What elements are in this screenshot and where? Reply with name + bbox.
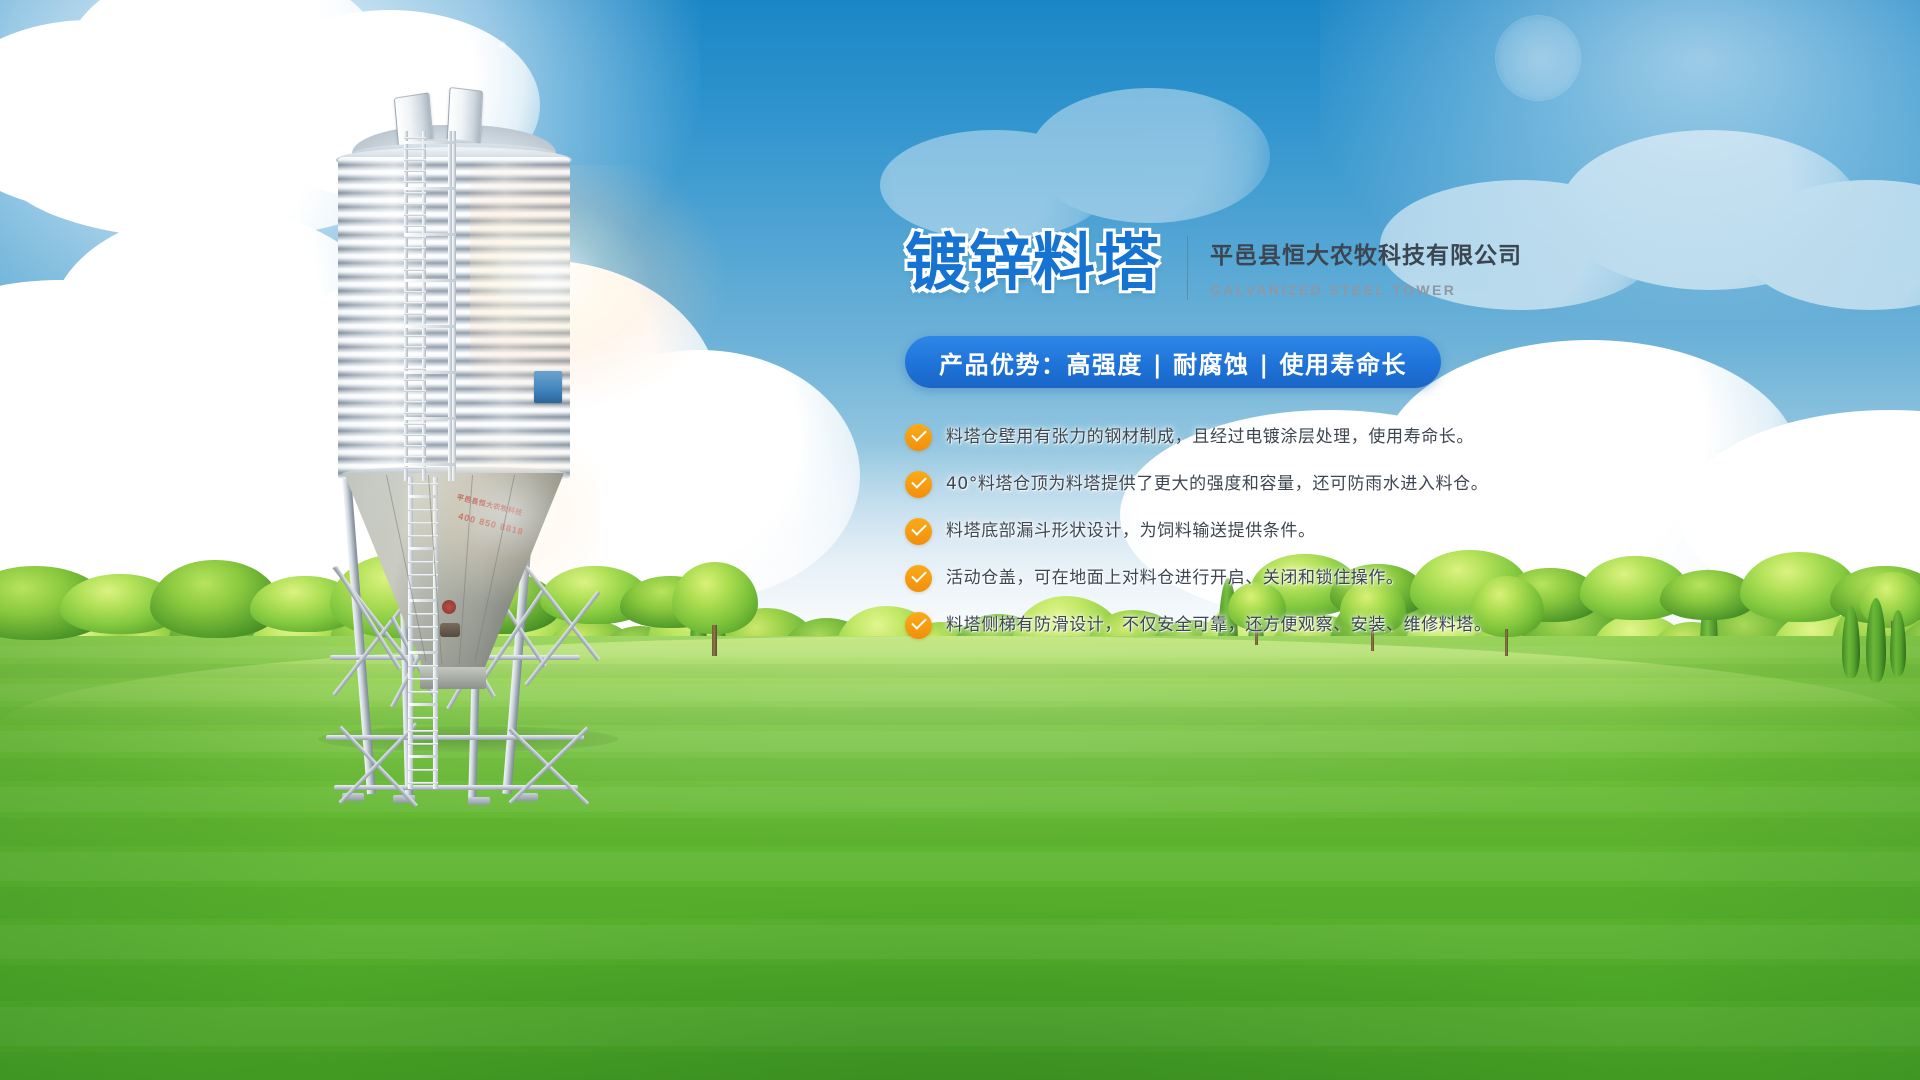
- ladder-rung: [408, 535, 438, 537]
- banner-stage: 平邑县恒大农牧科技 400 850 8818 镀锌料塔 平邑县恒大农牧科技有限公…: [0, 0, 1920, 1080]
- ladder-rung: [404, 148, 426, 150]
- ladder-rung: [404, 313, 426, 315]
- feature-item-label: 活动仓盖，可在地面上对料仓进行开启、关闭和锁住操作。: [946, 567, 1404, 589]
- ladder-rung: [408, 613, 438, 615]
- galvanized-steel-silo: 平邑县恒大农牧科技 400 850 8818: [300, 95, 620, 745]
- headline-right-block: 平邑县恒大农牧科技有限公司 GALVANIZED STEEL TOWER: [1210, 232, 1522, 298]
- ladder-rung: [404, 291, 426, 293]
- ladder-rung: [408, 574, 438, 576]
- ladder-rung: [408, 730, 438, 732]
- ladder-rung: [404, 379, 426, 381]
- ladder-cage-rib: [404, 417, 456, 420]
- ladder-rung: [404, 401, 426, 403]
- subtitle-english: GALVANIZED STEEL TOWER: [1210, 282, 1522, 298]
- check-circle-icon: [905, 471, 932, 498]
- ladder-rung: [404, 445, 426, 447]
- ladder-rung: [404, 423, 426, 425]
- ladder-rung: [408, 717, 438, 719]
- banner-content: 镀锌料塔 平邑县恒大农牧科技有限公司 GALVANIZED STEEL TOWE…: [905, 232, 1585, 659]
- silo-ladder-cage-rail: [448, 131, 456, 481]
- ladder-rung: [404, 247, 426, 249]
- silo-horizontal-brace: [326, 735, 584, 740]
- ladder-rung: [408, 483, 438, 485]
- ladder-rung: [404, 302, 426, 304]
- ladder-cage-rib: [404, 141, 456, 144]
- headline-row: 镀锌料塔 平邑县恒大农牧科技有限公司 GALVANIZED STEEL TOWE…: [905, 232, 1585, 300]
- check-circle-icon: [905, 518, 932, 545]
- page-title: 镀锌料塔: [905, 232, 1161, 294]
- lens-flare-dot-icon: [497, 40, 507, 50]
- ladder-rung: [404, 368, 426, 370]
- feature-item: 料塔仓壁用有张力的钢材制成，且经过电镀涂层处理，使用寿命长。: [905, 424, 1585, 451]
- ladder-rung: [408, 678, 438, 680]
- ladder-rung: [408, 743, 438, 745]
- feature-item: 40°料塔仓顶为料塔提供了更大的强度和容量，还可防雨水进入料仓。: [905, 471, 1585, 498]
- ladder-cage-rib: [404, 463, 456, 466]
- ladder-cage-rib: [404, 371, 456, 374]
- feature-item: 活动仓盖，可在地面上对料仓进行开启、关闭和锁住操作。: [905, 565, 1585, 592]
- ladder-rung: [404, 258, 426, 260]
- ladder-rung: [408, 587, 438, 589]
- silo-blue-accent-plate: [534, 371, 562, 403]
- feature-item-label: 料塔底部漏斗形状设计，为饲料输送提供条件。: [946, 520, 1316, 542]
- company-name: 平邑县恒大农牧科技有限公司: [1210, 236, 1522, 270]
- ladder-rung: [404, 412, 426, 414]
- ladder-rung: [404, 434, 426, 436]
- silo-leg-foot: [468, 797, 490, 805]
- ladder-rung: [404, 159, 426, 161]
- ladder-rung: [404, 236, 426, 238]
- ladder-rung: [408, 639, 438, 641]
- midground-tree: [672, 562, 758, 654]
- ladder-rung: [408, 626, 438, 628]
- ladder-cage-rib: [404, 325, 456, 328]
- ladder-rung: [404, 214, 426, 216]
- feature-item: 料塔底部漏斗形状设计，为饲料输送提供条件。: [905, 518, 1585, 545]
- feature-item: 料塔侧梯有防滑设计，不仅安全可靠，还方便观察、安装、维修料塔。: [905, 612, 1585, 639]
- ladder-rung: [404, 335, 426, 337]
- ladder-rung: [404, 225, 426, 227]
- ladder-rung: [404, 467, 426, 469]
- ladder-cage-rib-lower: [408, 703, 438, 706]
- feature-item-label: 40°料塔仓顶为料塔提供了更大的强度和容量，还可防雨水进入料仓。: [946, 473, 1488, 495]
- tree-crown: [672, 562, 758, 634]
- ladder-rung: [408, 665, 438, 667]
- ladder-rung: [408, 691, 438, 693]
- ladder-cage-rib: [404, 233, 456, 236]
- ladder-rung: [404, 390, 426, 392]
- ladder-rung: [404, 181, 426, 183]
- ladder-rung: [404, 346, 426, 348]
- ladder-rung: [404, 203, 426, 205]
- silo-lower-ladder: [408, 477, 438, 789]
- feature-item-label: 料塔仓壁用有张力的钢材制成，且经过电镀涂层处理，使用寿命长。: [946, 426, 1474, 448]
- check-circle-icon: [905, 424, 932, 451]
- tree-trunk: [712, 625, 716, 656]
- silo-valve-handle: [442, 600, 456, 614]
- ladder-rung: [408, 782, 438, 784]
- silo-diagonal-brace: [524, 566, 600, 661]
- headline-divider: [1187, 236, 1188, 300]
- check-circle-icon: [905, 565, 932, 592]
- ladder-rung: [404, 456, 426, 458]
- ladder-rung: [404, 192, 426, 194]
- feature-list: 料塔仓壁用有张力的钢材制成，且经过电镀涂层处理，使用寿命长。40°料塔仓顶为料塔…: [905, 424, 1585, 639]
- ladder-cage-rib: [404, 187, 456, 190]
- silo-upper-ladder: [404, 131, 426, 481]
- silo-discharge-port: [440, 623, 460, 637]
- ladder-cage-rib: [404, 279, 456, 282]
- silo-diagonal-brace: [524, 591, 600, 686]
- ladder-rung: [404, 137, 426, 139]
- ladder-rung: [408, 522, 438, 524]
- check-circle-icon: [905, 612, 932, 639]
- advantages-badge: 产品优势：高强度 | 耐腐蚀 | 使用寿命长: [905, 336, 1441, 388]
- lens-flare-ring-icon: [1496, 16, 1580, 100]
- ladder-rung: [408, 509, 438, 511]
- feature-item-label: 料塔侧梯有防滑设计，不仅安全可靠，还方便观察、安装、维修料塔。: [946, 614, 1492, 636]
- ladder-rung: [404, 170, 426, 172]
- ladder-rung: [404, 269, 426, 271]
- silo-horizontal-brace: [334, 785, 578, 790]
- ladder-rung: [404, 357, 426, 359]
- ladder-cage-rib-lower: [408, 495, 438, 498]
- ladder-cage-rib-lower: [408, 755, 438, 758]
- ladder-rung: [408, 769, 438, 771]
